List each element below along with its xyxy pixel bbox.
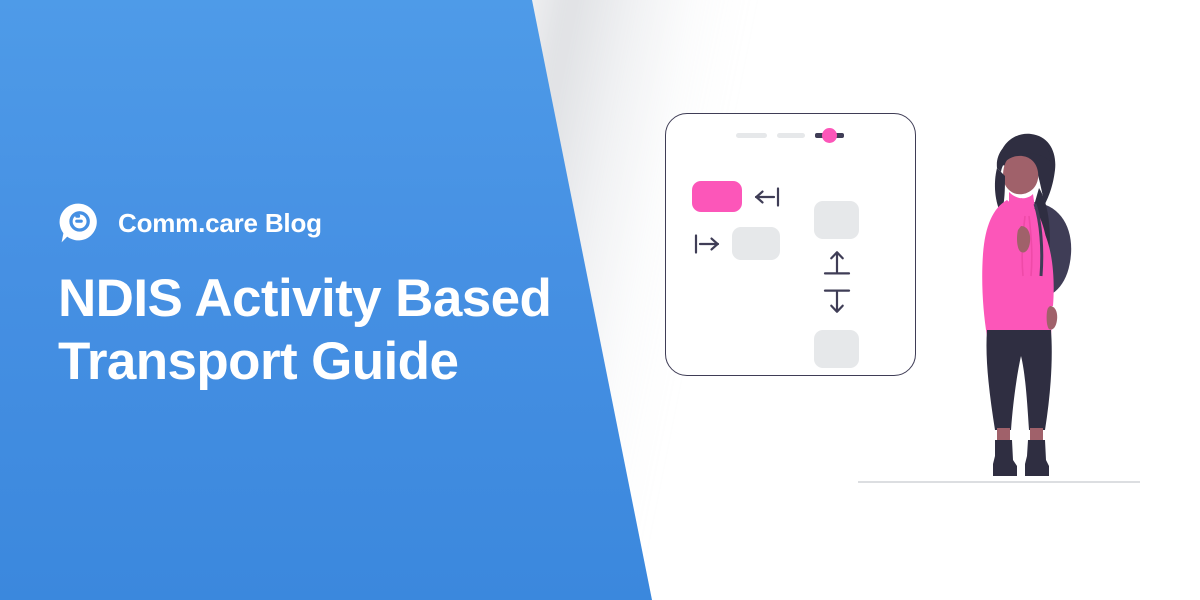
slider-track-segment-1 bbox=[736, 133, 767, 138]
slider-knob-group[interactable] bbox=[815, 128, 844, 143]
speech-bubble-b-icon bbox=[58, 202, 100, 244]
ground-line bbox=[858, 481, 1140, 483]
pink-block[interactable] bbox=[692, 181, 742, 212]
row-align-left bbox=[692, 181, 782, 212]
gray-block-row[interactable] bbox=[732, 227, 780, 260]
slider-track-segment-2 bbox=[777, 133, 805, 138]
range-slider[interactable] bbox=[736, 126, 858, 144]
arrow-up-to-line-icon bbox=[820, 246, 854, 281]
column-distribute-vertical bbox=[814, 201, 859, 368]
banner-canvas: Comm.care Blog NDIS Activity Based Trans… bbox=[0, 0, 1200, 600]
page-title: NDIS Activity Based Transport Guide bbox=[58, 268, 578, 393]
row-align-right bbox=[692, 227, 780, 260]
arrow-down-from-line-icon bbox=[820, 288, 854, 323]
standing-woman-with-backpack bbox=[955, 130, 1095, 495]
gray-block-top[interactable] bbox=[814, 201, 859, 239]
brand-lockup: Comm.care Blog bbox=[58, 202, 322, 244]
brand-name: Comm.care Blog bbox=[118, 208, 322, 239]
arrow-left-to-bar-icon bbox=[752, 182, 782, 212]
slider-knob[interactable] bbox=[822, 128, 837, 143]
interface-card bbox=[665, 113, 916, 376]
bar-to-arrow-right-icon bbox=[692, 229, 722, 259]
gray-block-bottom[interactable] bbox=[814, 330, 859, 368]
